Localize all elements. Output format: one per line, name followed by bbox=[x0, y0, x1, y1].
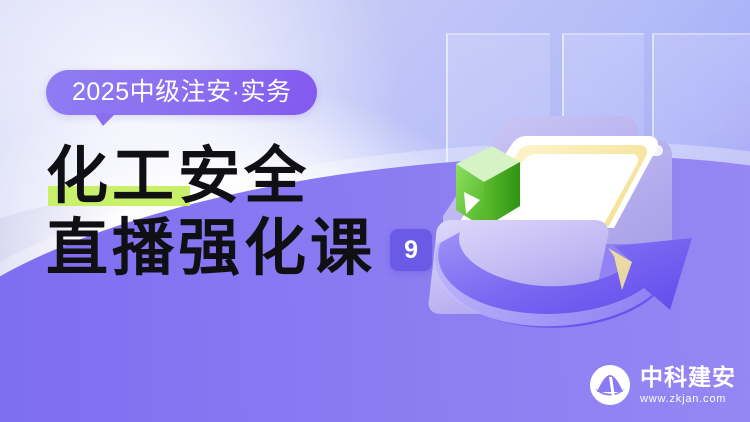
episode-number-badge: 9 bbox=[390, 229, 432, 271]
banner-text-block: 2025中级注安·实务 化工安全 直播强化课 9 bbox=[46, 70, 466, 285]
course-tag-tail bbox=[94, 113, 116, 126]
course-tag-label: 2025中级注安·实务 bbox=[46, 70, 317, 115]
course-tag: 2025中级注安·实务 bbox=[46, 70, 317, 115]
page-title: 化工安全 直播强化课 9 bbox=[46, 141, 466, 285]
brand-logo-text: 中科建安 www.zkjan.com bbox=[640, 366, 736, 405]
title-line-2: 直播强化课 9 bbox=[46, 213, 466, 285]
mountain-emblem-icon bbox=[589, 364, 631, 406]
brand-logo: 中科建安 www.zkjan.com bbox=[589, 364, 736, 406]
course-banner: 2025中级注安·实务 化工安全 直播强化课 9 中科建安 bbox=[0, 0, 750, 422]
brand-website: www.zkjan.com bbox=[640, 394, 736, 405]
brand-name: 中科建安 bbox=[640, 366, 736, 389]
title-line-1: 化工安全 bbox=[46, 141, 466, 213]
